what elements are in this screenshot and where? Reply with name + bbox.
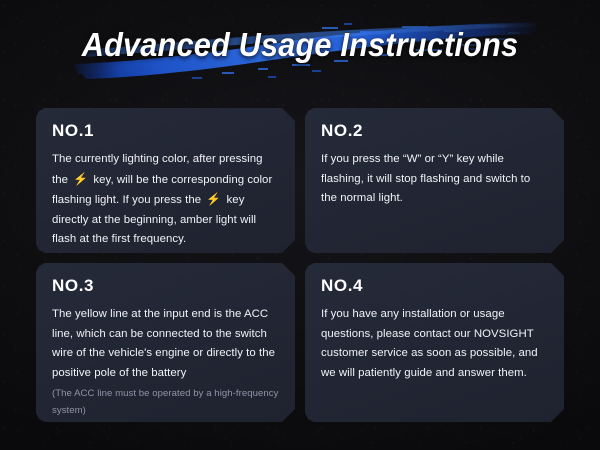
lightning-bolt-icon: ⚡ <box>204 192 223 206</box>
instruction-card-1: NO.1 The currently lighting color, after… <box>36 108 295 253</box>
card-label-3: NO.3 <box>52 276 279 296</box>
page-title: Advanced Usage Instructions <box>21 14 579 76</box>
card-body-3: The yellow line at the input end is the … <box>52 305 279 383</box>
card-label-1: NO.1 <box>52 121 279 141</box>
instruction-card-4: NO.4 If you have any installation or usa… <box>305 263 564 422</box>
instruction-cards-grid: NO.1 The currently lighting color, after… <box>36 108 564 422</box>
card-note-3: (The ACC line must be operated by a high… <box>52 385 279 419</box>
card-label-4: NO.4 <box>321 276 548 296</box>
card-label-2: NO.2 <box>321 121 548 141</box>
instruction-card-2: NO.2 If you press the “W” or “Y” key whi… <box>305 108 564 253</box>
lightning-bolt-icon: ⚡ <box>71 172 90 186</box>
card-body-4: If you have any installation or usage qu… <box>321 305 548 383</box>
instructions-page: Advanced Usage Instructions NO.1 The cur… <box>0 0 600 450</box>
page-header: Advanced Usage Instructions <box>0 14 600 88</box>
card-body-1: The currently lighting color, after pres… <box>52 150 279 250</box>
card-body-2: If you press the “W” or “Y” key while fl… <box>321 150 548 209</box>
instruction-card-3: NO.3 The yellow line at the input end is… <box>36 263 295 422</box>
